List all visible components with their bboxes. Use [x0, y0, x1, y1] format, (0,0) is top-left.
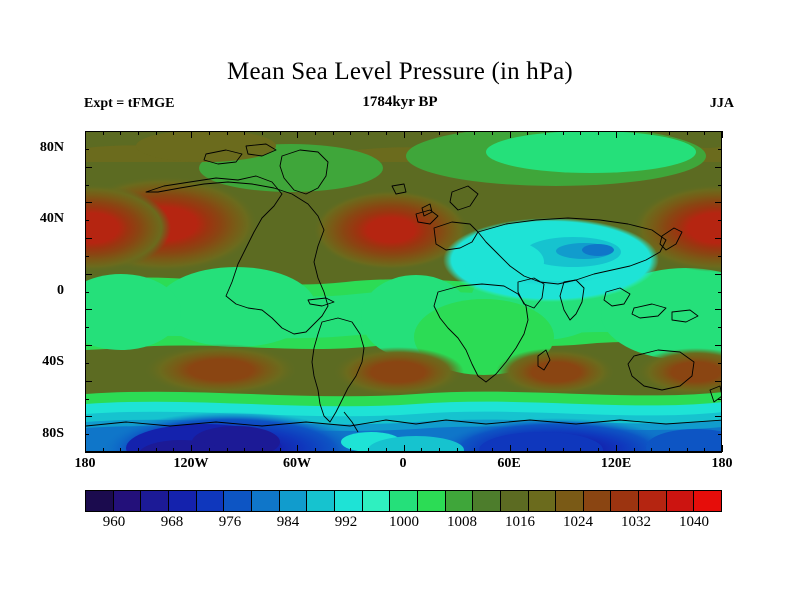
colorbar-swatch-1008 [446, 491, 474, 511]
x-tickmark [156, 131, 157, 135]
colorbar-swatch-1000 [390, 491, 418, 511]
y-tickmark [85, 202, 92, 203]
x-tickmark [85, 445, 86, 452]
x-tickmark [227, 131, 228, 135]
x-tickmark [138, 448, 139, 452]
x-tickmark [598, 131, 599, 135]
y-tickmark [85, 345, 92, 346]
y-tickmark [718, 363, 722, 364]
x-tickmark [439, 131, 440, 135]
map-plot-area [85, 131, 722, 452]
y-tickmark [715, 167, 722, 168]
y-tickmark [85, 274, 92, 275]
y-tickmark [85, 399, 89, 400]
x-tickmark [580, 131, 581, 135]
x-tickmark [616, 445, 617, 452]
y-tickmark [718, 399, 722, 400]
x-tickmark [333, 131, 334, 135]
x-tickmark [315, 448, 316, 452]
x-tickmark [297, 445, 298, 452]
xtick-120w: 120W [151, 456, 231, 472]
x-tickmark [244, 448, 245, 452]
x-tickmark [262, 131, 263, 135]
x-tickmark [651, 131, 652, 135]
x-tickmark [634, 448, 635, 452]
x-tickmark [651, 448, 652, 452]
x-tickmark [227, 448, 228, 452]
y-tickmark [85, 416, 92, 417]
y-tickmark [85, 220, 89, 221]
x-tickmark [563, 448, 564, 452]
y-tickmark [718, 220, 722, 221]
colorbar-swatch-972 [197, 491, 225, 511]
colorbar-swatch-996 [363, 491, 391, 511]
x-tickmark [563, 131, 564, 135]
colorbar-swatch-976 [224, 491, 252, 511]
x-tickmark [368, 448, 369, 452]
y-tickmark [715, 416, 722, 417]
y-tickmark [85, 309, 92, 310]
x-tickmark [687, 131, 688, 135]
y-tickmark [85, 381, 92, 382]
y-tickmark [715, 345, 722, 346]
colorbar-swatch-968 [169, 491, 197, 511]
y-tickmark [85, 434, 89, 435]
x-tickmark [350, 131, 351, 135]
x-tickmark [474, 131, 475, 135]
x-tickmark [421, 131, 422, 135]
x-tickmark [120, 448, 121, 452]
x-tickmark [404, 445, 405, 452]
x-tickmark [173, 448, 174, 452]
colorbar-swatch-1012 [473, 491, 501, 511]
x-tickmark [103, 448, 104, 452]
colorbar-swatch-1016 [501, 491, 529, 511]
colorbar-label-1040: 1040 [659, 514, 729, 531]
x-tickmark [439, 448, 440, 452]
ytick-80n: 80N [0, 140, 64, 156]
x-tickmark [209, 448, 210, 452]
x-tickmark [120, 131, 121, 135]
x-tickmark [173, 131, 174, 135]
season-label: JJA [710, 96, 734, 112]
x-tickmark [156, 448, 157, 452]
colorbar-swatch-1020 [529, 491, 557, 511]
colorbar-swatch-988 [307, 491, 335, 511]
x-tickmark [244, 131, 245, 135]
x-tickmark [669, 131, 670, 135]
y-tickmark [85, 149, 89, 150]
x-tickmark [704, 448, 705, 452]
x-tickmark [191, 445, 192, 452]
y-tickmark [718, 434, 722, 435]
x-tickmark [474, 448, 475, 452]
x-tickmark [527, 448, 528, 452]
x-tickmark [191, 131, 192, 138]
y-tickmark [85, 185, 89, 186]
x-tickmark [616, 131, 617, 138]
x-tickmark [280, 131, 281, 135]
colorbar-swatch-1028 [584, 491, 612, 511]
x-tickmark [333, 448, 334, 452]
x-tickmark [350, 448, 351, 452]
y-tickmark [718, 327, 722, 328]
y-tickmark [715, 238, 722, 239]
colorbar-swatch-1032 [611, 491, 639, 511]
colorbar-swatch-980 [252, 491, 280, 511]
xtick-60e: 60E [469, 456, 549, 472]
y-tickmark [718, 149, 722, 150]
colorbar-swatch-956 [86, 491, 114, 511]
pressure-field [86, 132, 722, 452]
x-tickmark [368, 131, 369, 135]
x-tickmark [315, 131, 316, 135]
x-tickmark [510, 445, 511, 452]
x-tickmark [297, 131, 298, 138]
x-tickmark [280, 448, 281, 452]
y-tickmark [85, 256, 89, 257]
x-tickmark [85, 131, 86, 138]
x-tickmark [669, 448, 670, 452]
colorbar [85, 490, 722, 512]
colorbar-swatch-984 [280, 491, 308, 511]
x-tickmark [262, 448, 263, 452]
figure-canvas: Mean Sea Level Pressure (in hPa) 1784kyr… [0, 0, 800, 600]
x-tickmark [687, 448, 688, 452]
y-tickmark [85, 292, 89, 293]
x-tickmark [598, 448, 599, 452]
x-tickmark [492, 448, 493, 452]
colorbar-swatch-1044 [694, 491, 721, 511]
y-tickmark [85, 452, 92, 453]
colorbar-swatch-1036 [639, 491, 667, 511]
axis-bottom-line [85, 452, 722, 453]
colorbar-swatch-960 [114, 491, 142, 511]
y-tickmark [715, 131, 722, 132]
xtick-180w: 180 [45, 456, 125, 472]
x-tickmark [103, 131, 104, 135]
y-tickmark [85, 327, 89, 328]
ytick-0: 0 [0, 283, 64, 299]
xtick-180e: 180 [682, 456, 762, 472]
x-tickmark [492, 131, 493, 135]
y-tickmark [85, 238, 92, 239]
x-tickmark [722, 445, 723, 452]
x-tickmark [138, 131, 139, 135]
colorbar-swatch-964 [141, 491, 169, 511]
y-tickmark [718, 185, 722, 186]
colorbar-swatch-1024 [556, 491, 584, 511]
x-tickmark [209, 131, 210, 135]
x-tickmark [421, 448, 422, 452]
y-tickmark [85, 131, 92, 132]
y-tickmark [718, 256, 722, 257]
colorbar-swatch-1004 [418, 491, 446, 511]
x-tickmark [386, 131, 387, 135]
x-tickmark [527, 131, 528, 135]
xtick-60w: 60W [257, 456, 337, 472]
x-tickmark [545, 131, 546, 135]
x-tickmark [404, 131, 405, 138]
x-tickmark [510, 131, 511, 138]
y-tickmark [715, 274, 722, 275]
experiment-label: Expt = tFMGE [84, 96, 174, 112]
y-tickmark [85, 363, 89, 364]
xtick-120e: 120E [576, 456, 656, 472]
x-tickmark [634, 131, 635, 135]
y-tickmark [715, 452, 722, 453]
ytick-40s: 40S [0, 354, 64, 370]
xtick-0: 0 [363, 456, 443, 472]
x-tickmark [457, 131, 458, 135]
ytick-80s: 80S [0, 426, 64, 442]
ytick-40n: 40N [0, 211, 64, 227]
y-tickmark [715, 381, 722, 382]
colorbar-swatch-1040 [667, 491, 695, 511]
x-tickmark [704, 131, 705, 135]
x-tickmark [545, 448, 546, 452]
x-tickmark [386, 448, 387, 452]
y-tickmark [715, 202, 722, 203]
x-tickmark [580, 448, 581, 452]
x-tickmark [722, 131, 723, 138]
x-tickmark [457, 448, 458, 452]
y-tickmark [718, 292, 722, 293]
y-tickmark [85, 167, 92, 168]
page-title: Mean Sea Level Pressure (in hPa) [0, 58, 800, 86]
colorbar-swatch-992 [335, 491, 363, 511]
y-tickmark [715, 309, 722, 310]
